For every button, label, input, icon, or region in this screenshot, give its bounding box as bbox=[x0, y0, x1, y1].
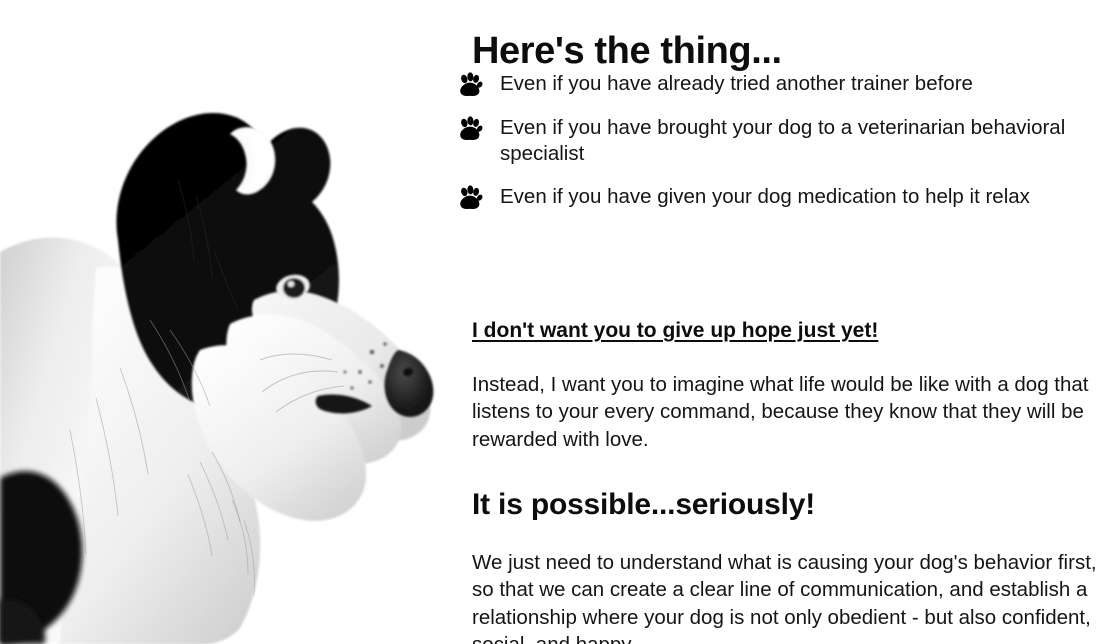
page-title: Here's the thing... bbox=[472, 29, 782, 73]
paw-print-icon bbox=[457, 72, 483, 98]
list-item: Even if you have given your dog medicati… bbox=[455, 183, 1115, 211]
list-item-label: Even if you have already tried another t… bbox=[500, 70, 1115, 97]
list-item-label: Even if you have given your dog medicati… bbox=[500, 183, 1115, 210]
copy-column: Here's the thing... Even if you have alr… bbox=[450, 0, 1120, 644]
paw-print-icon bbox=[457, 185, 483, 211]
paw-print-icon bbox=[457, 116, 483, 142]
imagine-paragraph: Instead, I want you to imagine what life… bbox=[472, 371, 1112, 454]
benefit-list: Even if you have already tried another t… bbox=[455, 70, 1115, 227]
understand-paragraph: We just need to understand what is causi… bbox=[472, 549, 1120, 644]
hope-callout: I don't want you to give up hope just ye… bbox=[472, 318, 878, 344]
sales-page: Here's the thing... Even if you have alr… bbox=[0, 0, 1120, 644]
section-heading: It is possible...seriously! bbox=[472, 487, 815, 523]
list-item-label: Even if you have brought your dog to a v… bbox=[500, 114, 1115, 167]
list-item: Even if you have brought your dog to a v… bbox=[455, 114, 1115, 167]
dog-photo bbox=[0, 0, 450, 644]
list-item: Even if you have already tried another t… bbox=[455, 70, 1115, 98]
